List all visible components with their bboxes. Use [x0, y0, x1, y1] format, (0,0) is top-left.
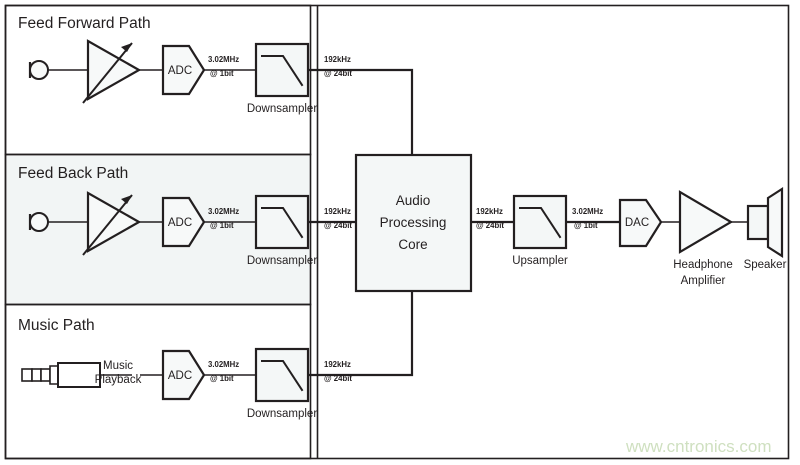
- ff-out-rate-line1: 192kHz: [324, 55, 351, 64]
- downsampler-label-ff: Downsampler: [247, 103, 317, 115]
- headphone-amp-label-line1: Headphone: [673, 259, 732, 271]
- adc-rate-line2-fb: @ 1bit: [210, 221, 234, 230]
- adc-rate-line2-ff: @ 1bit: [210, 69, 234, 78]
- fb-out-rate-line2: @ 24bit: [324, 221, 352, 230]
- adc-label-fb: ADC: [168, 217, 192, 229]
- microphone-icon-ff: [30, 61, 48, 79]
- core-out-rate-line1: 192kHz: [476, 207, 503, 216]
- core-label-line1: Audio: [396, 193, 431, 208]
- block-diagram: Feed Forward Path Feed Back Path Music P…: [0, 0, 800, 465]
- fb-out-rate-line1: 192kHz: [324, 207, 351, 216]
- microphone-icon-fb: [30, 213, 48, 231]
- adc-label-ff: ADC: [168, 65, 192, 77]
- downsampler-block-music: [256, 349, 308, 401]
- speaker-cone-icon: [768, 189, 782, 256]
- downsampler-block-fb: [256, 196, 308, 248]
- adc-label-music: ADC: [168, 370, 192, 382]
- speaker-label: Speaker: [744, 259, 787, 271]
- upsampler-out-rate-line1: 3.02MHz: [572, 207, 603, 216]
- jack-icon-tip-ff: [22, 369, 32, 381]
- music-out-rate-line2: @ 24bit: [324, 374, 352, 383]
- adc-rate-line1-ff: 3.02MHz: [208, 55, 239, 64]
- panel-title-feed-back: Feed Back Path: [18, 165, 128, 182]
- downsampler-label-music: Downsampler: [247, 408, 317, 420]
- adc-rate-line2-music: @ 1bit: [210, 374, 234, 383]
- diagram-canvas: Feed Forward Path Feed Back Path Music P…: [0, 0, 800, 465]
- music-playback-label-line1: Music: [103, 360, 133, 372]
- speaker-body-icon: [748, 206, 768, 239]
- panel-title-feed-forward: Feed Forward Path: [18, 15, 151, 32]
- upsampler-label: Upsampler: [512, 255, 568, 267]
- dac-label: DAC: [625, 217, 649, 229]
- core-out-rate-line2: @ 24bit: [476, 221, 504, 230]
- upsampler-out-rate-line2: @ 1bit: [574, 221, 598, 230]
- headphone-amp-label-line2: Amplifier: [681, 275, 726, 287]
- core-label-line3: Core: [398, 237, 427, 252]
- music-out-rate-line1: 192kHz: [324, 360, 351, 369]
- headphone-amplifier-block: [680, 192, 731, 252]
- watermark-text: www.cntronics.com: [625, 437, 771, 456]
- panel-title-music: Music Path: [18, 317, 95, 334]
- music-playback-label-line2: Playback: [95, 374, 142, 386]
- downsampler-block-ff: [256, 44, 308, 96]
- core-label-line2: Processing: [380, 215, 447, 230]
- jack-icon-ring2: [41, 369, 50, 381]
- adc-rate-line1-music: 3.02MHz: [208, 360, 239, 369]
- jack-icon-ring1: [32, 369, 41, 381]
- wire-ff-to-core: [308, 70, 412, 155]
- ff-out-rate-line2: @ 24bit: [324, 69, 352, 78]
- jack-icon-shoulder: [50, 366, 58, 384]
- upsampler-block: [514, 196, 566, 248]
- downsampler-label-fb: Downsampler: [247, 255, 317, 267]
- adc-rate-line1-fb: 3.02MHz: [208, 207, 239, 216]
